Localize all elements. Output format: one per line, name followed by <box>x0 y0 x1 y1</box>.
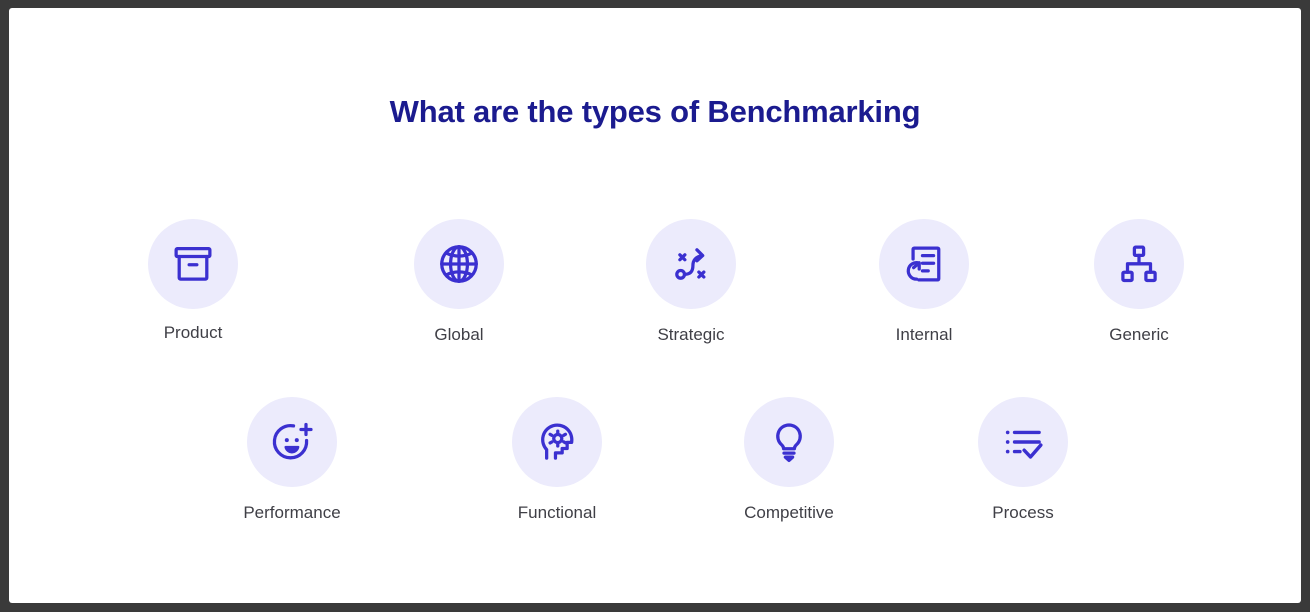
globe-icon <box>436 241 482 287</box>
benchmark-type-competitive[interactable]: Competitive <box>699 397 879 523</box>
benchmark-type-label: Product <box>103 323 283 343</box>
benchmark-type-label: Performance <box>202 503 382 523</box>
benchmark-type-label: Functional <box>467 503 647 523</box>
icon-bubble <box>148 219 238 309</box>
benchmark-type-label: Process <box>933 503 1113 523</box>
page-title: What are the types of Benchmarking <box>9 94 1301 130</box>
icon-bubble <box>744 397 834 487</box>
slide-frame: What are the types of Benchmarking Produ… <box>0 0 1310 612</box>
benchmark-type-functional[interactable]: Functional <box>467 397 647 523</box>
icon-bubble <box>414 219 504 309</box>
archive-box-icon <box>170 241 216 287</box>
icon-bubble <box>879 219 969 309</box>
hierarchy-icon <box>1116 241 1162 287</box>
benchmark-type-label: Global <box>369 325 549 345</box>
benchmark-type-process[interactable]: Process <box>933 397 1113 523</box>
icon-bubble <box>978 397 1068 487</box>
benchmark-type-label: Strategic <box>601 325 781 345</box>
head-gear-icon <box>534 419 580 465</box>
benchmark-type-product[interactable]: Product <box>103 219 283 343</box>
slide-canvas: What are the types of Benchmarking Produ… <box>9 8 1301 603</box>
benchmark-type-label: Generic <box>1049 325 1229 345</box>
benchmark-type-performance[interactable]: Performance <box>202 397 382 523</box>
checklist-icon <box>1000 419 1046 465</box>
document-refresh-icon <box>901 241 947 287</box>
lightbulb-icon <box>766 419 812 465</box>
icon-bubble <box>646 219 736 309</box>
benchmark-type-label: Competitive <box>699 503 879 523</box>
benchmark-type-internal[interactable]: Internal <box>834 219 1014 345</box>
benchmark-type-global[interactable]: Global <box>369 219 549 345</box>
benchmark-type-label: Internal <box>834 325 1014 345</box>
strategy-path-icon <box>668 241 714 287</box>
icon-bubble <box>247 397 337 487</box>
icon-bubble <box>1094 219 1184 309</box>
benchmark-type-strategic[interactable]: Strategic <box>601 219 781 345</box>
icon-bubble <box>512 397 602 487</box>
smiley-plus-icon <box>269 419 315 465</box>
benchmark-type-generic[interactable]: Generic <box>1049 219 1229 345</box>
